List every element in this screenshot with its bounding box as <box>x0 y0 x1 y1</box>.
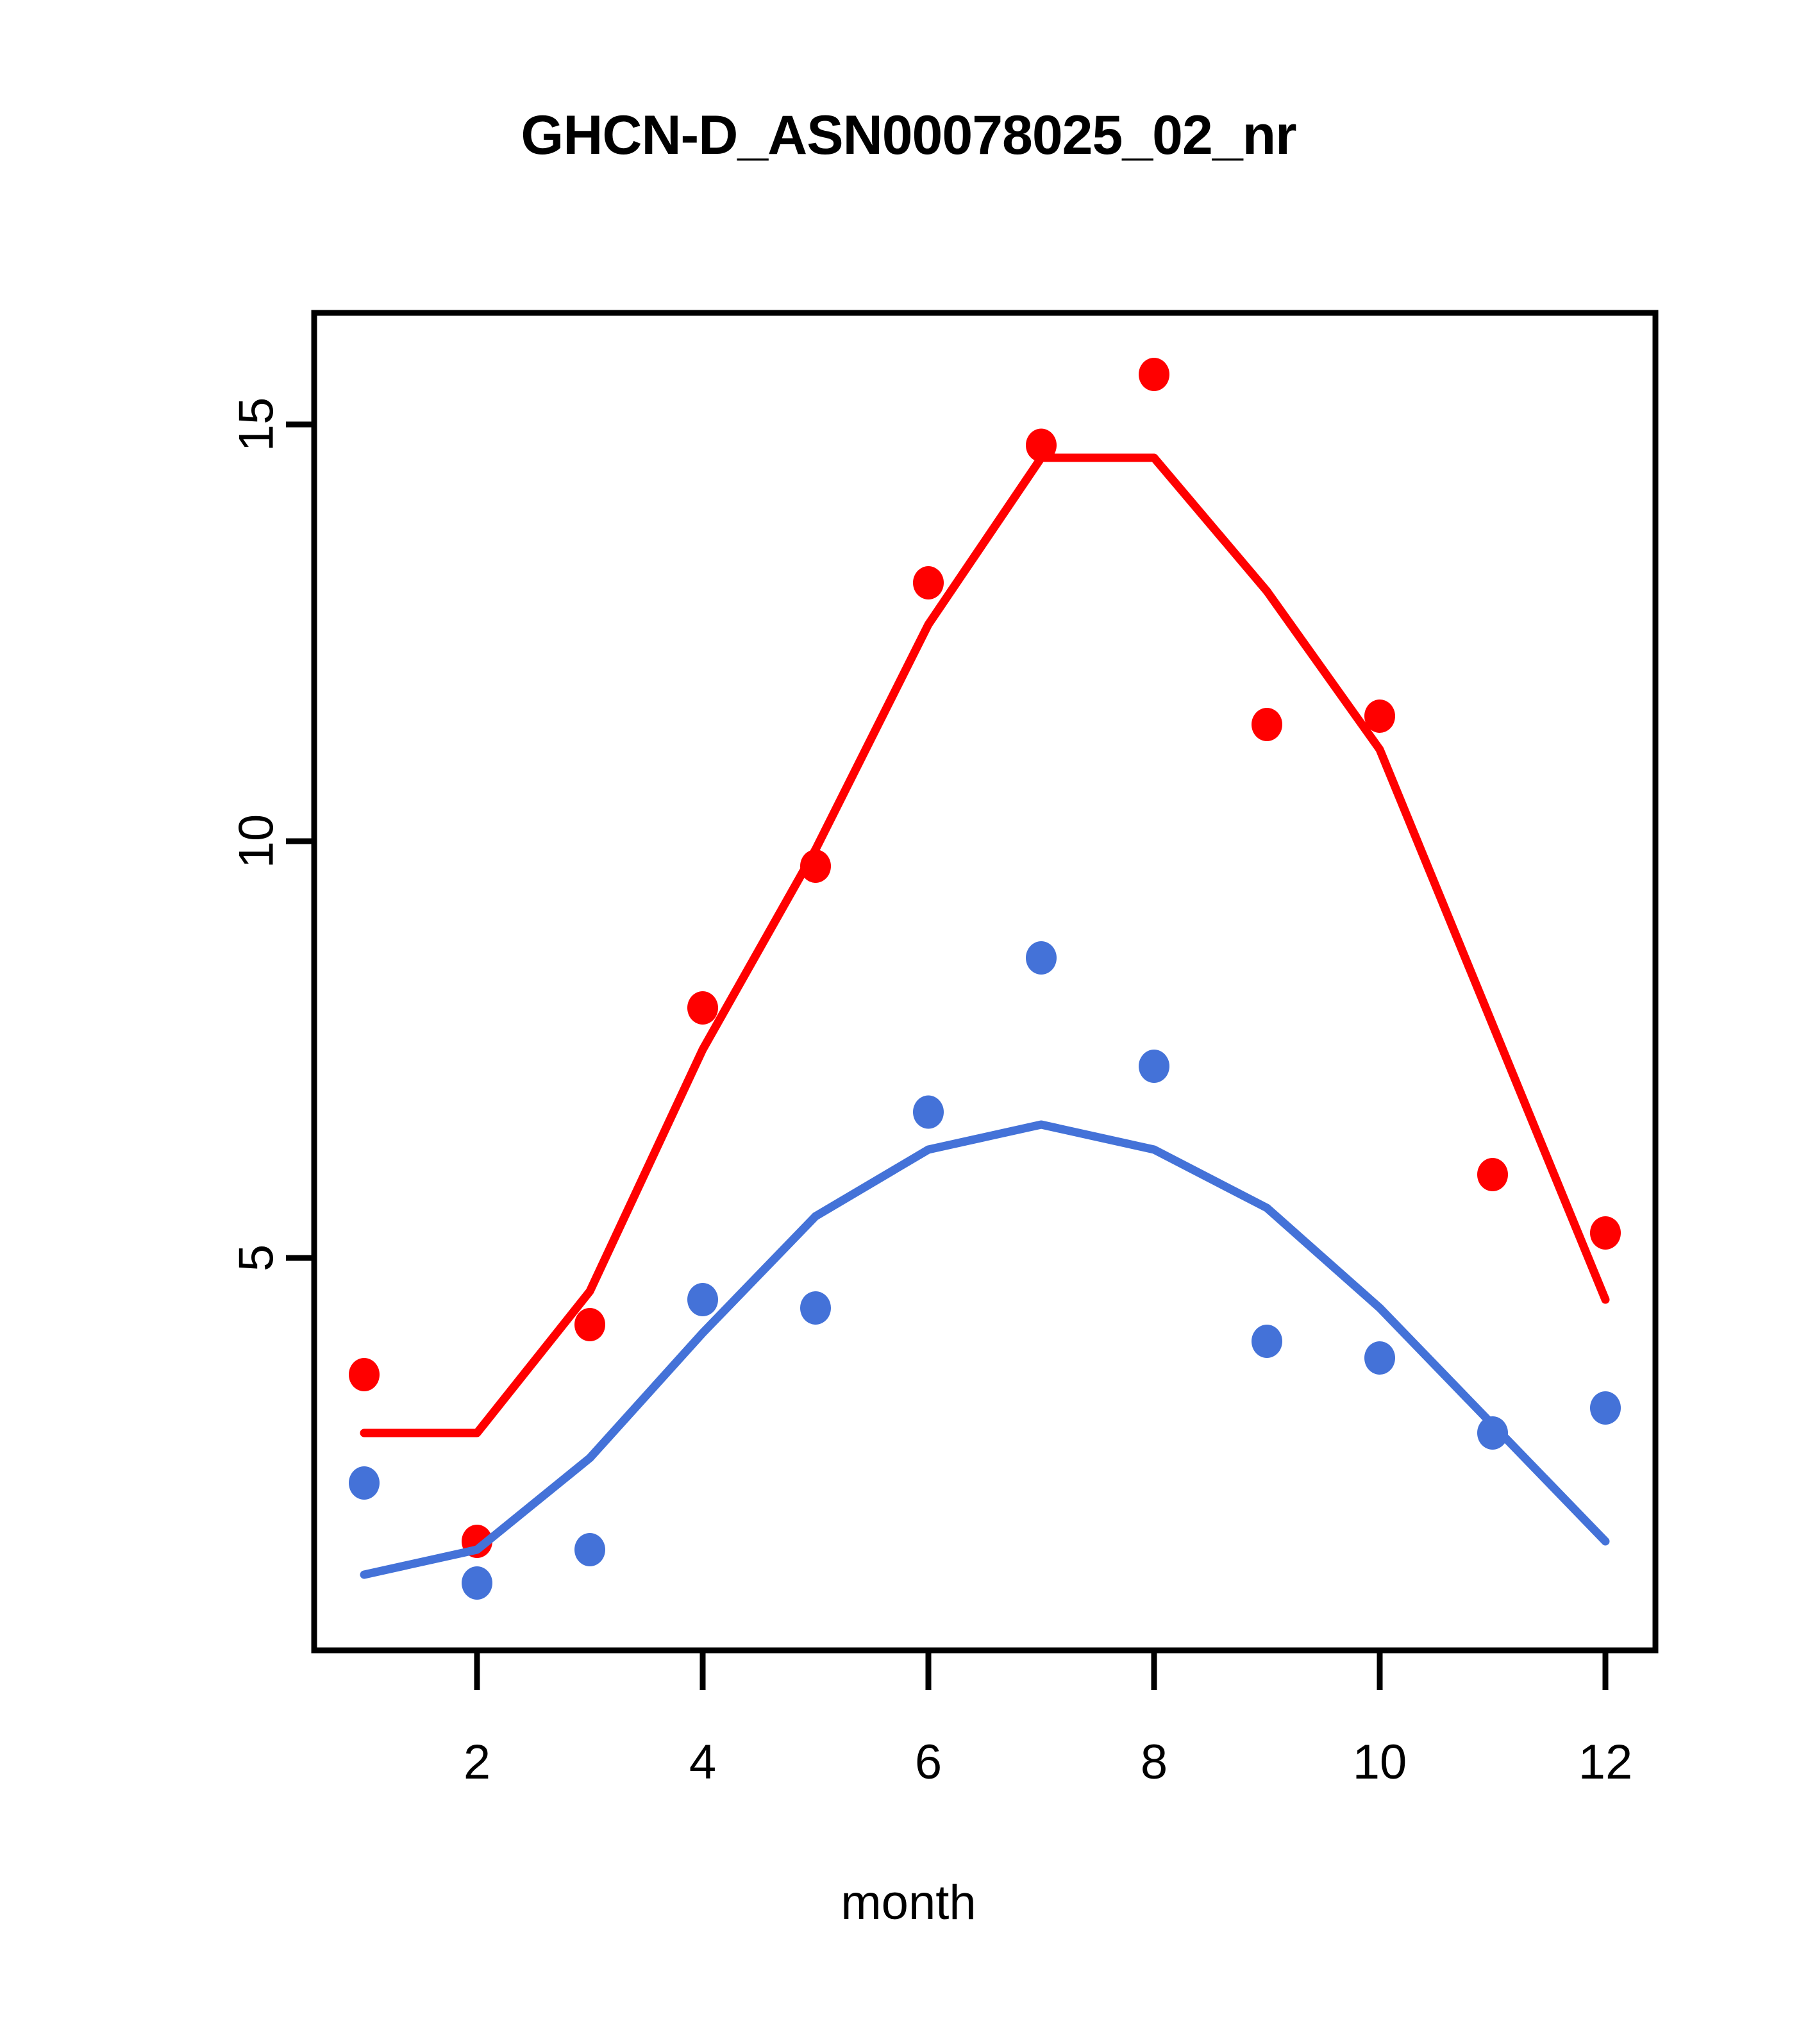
series-line-red-line <box>364 458 1605 1433</box>
data-point-red-points <box>1590 1216 1621 1250</box>
data-point-red-points <box>1026 429 1057 462</box>
x-axis-label: month <box>0 1879 1817 1927</box>
data-point-blue-points <box>1590 1391 1621 1425</box>
chart-figure: GHCN-D_ASN00078025_02_nr 5101524681012 m… <box>0 0 1817 2044</box>
y-axis-tick-label: 5 <box>230 1244 284 1271</box>
data-point-blue-points <box>1026 941 1057 975</box>
data-point-blue-points <box>1252 1325 1282 1358</box>
x-axis-tick-label: 12 <box>1578 1735 1633 1789</box>
data-point-red-points <box>1477 1158 1508 1191</box>
data-point-red-points <box>1252 708 1282 741</box>
plot-canvas: 5101524681012 <box>0 0 1817 2044</box>
x-axis-tick-label: 6 <box>915 1735 942 1789</box>
data-point-blue-points <box>800 1291 831 1325</box>
y-axis-tick-label: 10 <box>230 814 284 869</box>
data-point-blue-points <box>1477 1416 1508 1450</box>
data-point-red-points <box>800 850 831 883</box>
y-axis-tick-label: 15 <box>230 398 284 452</box>
data-point-blue-points <box>1139 1050 1169 1083</box>
x-axis-tick-label: 10 <box>1353 1735 1407 1789</box>
data-point-red-points <box>1139 358 1169 391</box>
data-point-red-points <box>687 991 718 1025</box>
data-point-red-points <box>574 1308 605 1341</box>
data-point-blue-points <box>913 1096 944 1129</box>
data-point-blue-points <box>1364 1341 1395 1375</box>
data-point-blue-points <box>574 1533 605 1566</box>
series-line-blue-line <box>364 1125 1605 1575</box>
data-point-red-points <box>913 566 944 599</box>
data-point-red-points <box>349 1358 380 1391</box>
x-axis-tick-label: 8 <box>1141 1735 1168 1789</box>
data-point-blue-points <box>462 1566 492 1600</box>
data-point-red-points <box>1364 699 1395 733</box>
plot-border <box>314 313 1655 1650</box>
x-axis-tick-label: 2 <box>464 1735 490 1789</box>
data-point-blue-points <box>349 1466 380 1500</box>
x-axis-tick-label: 4 <box>689 1735 716 1789</box>
data-point-blue-points <box>687 1283 718 1316</box>
